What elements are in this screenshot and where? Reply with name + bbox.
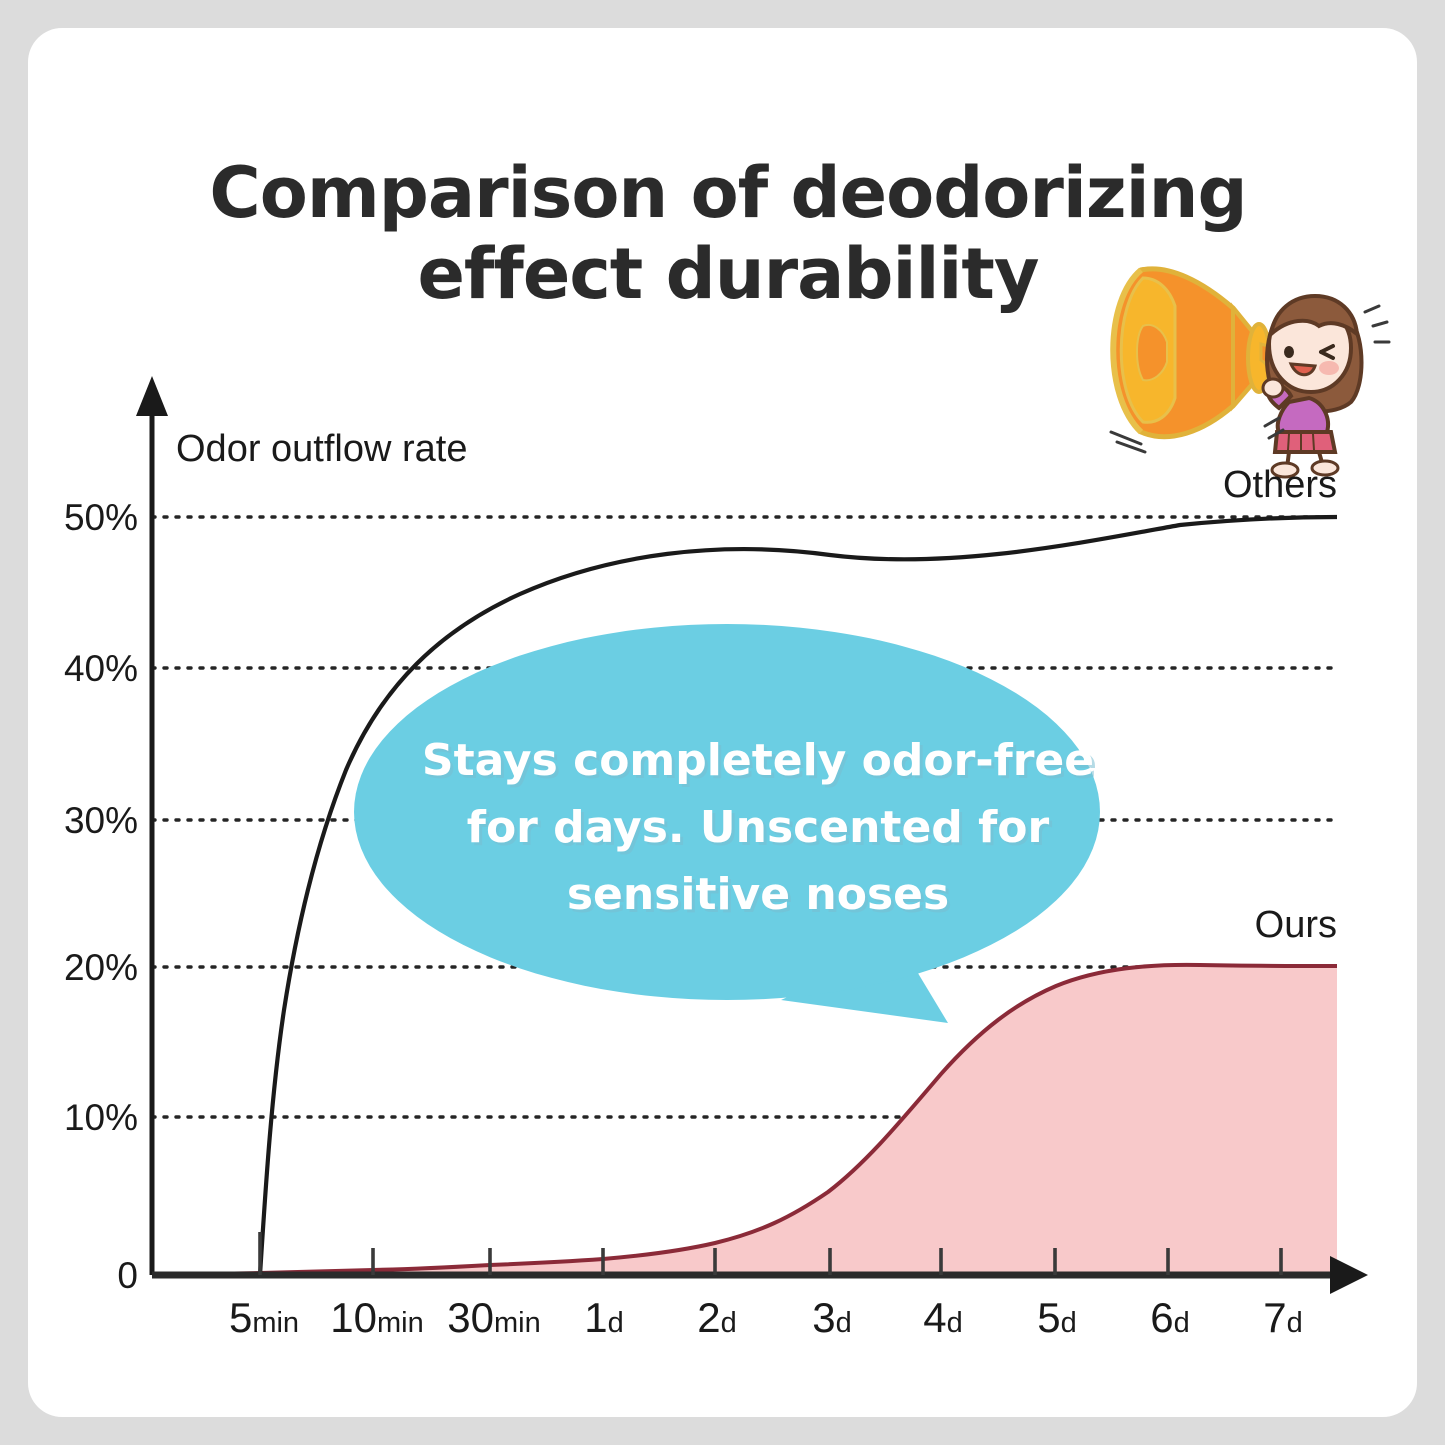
x-tick-unit-5: d xyxy=(836,1307,852,1339)
x-tick-num-0: 5 xyxy=(229,1294,252,1341)
svg-text:7d: 7d xyxy=(1263,1294,1303,1341)
svg-text:30min: 30min xyxy=(447,1294,540,1341)
x-tick-num-7: 5 xyxy=(1037,1294,1060,1341)
svg-text:10min: 10min xyxy=(330,1294,423,1341)
x-tick-num-6: 4 xyxy=(923,1294,946,1341)
chart-area: 50% 40% 30% 20% 10% 0 Odor outflow rate … xyxy=(28,28,1417,1417)
svg-text:6d: 6d xyxy=(1150,1294,1190,1341)
x-tick-num-8: 6 xyxy=(1150,1294,1173,1341)
series-label-ours: Ours xyxy=(1255,904,1337,946)
x-tick-num-1: 10 xyxy=(330,1294,377,1341)
x-tick-unit-7: d xyxy=(1061,1307,1077,1339)
x-tick-num-9: 7 xyxy=(1263,1294,1286,1341)
x-tick-num-3: 1 xyxy=(584,1294,607,1341)
svg-text:2d: 2d xyxy=(697,1294,737,1341)
y-axis xyxy=(136,376,168,1275)
x-tick-unit-8: d xyxy=(1174,1307,1190,1339)
y-axis-title: Odor outflow rate xyxy=(176,428,467,470)
callout-bubble xyxy=(354,624,1100,1023)
series-label-others: Others xyxy=(1223,464,1337,506)
svg-text:5min: 5min xyxy=(229,1294,299,1341)
x-tick-labels: 5min 10min 30min 1d 2d 3d 4d 5d 6d 7d xyxy=(229,1294,1303,1341)
x-tick-unit-2: min xyxy=(494,1307,541,1339)
y-tick-label-30: 30% xyxy=(64,800,138,841)
white-card: Comparison of deodorizing effect durabil… xyxy=(28,28,1417,1417)
series-ours-area xyxy=(152,965,1337,1275)
y-tick-label-10: 10% xyxy=(64,1097,138,1138)
y-tick-label-50: 50% xyxy=(64,497,138,538)
x-tick-num-2: 30 xyxy=(447,1294,494,1341)
x-tick-unit-3: d xyxy=(608,1307,624,1339)
svg-text:1d: 1d xyxy=(584,1294,624,1341)
svg-text:5d: 5d xyxy=(1037,1294,1077,1341)
y-tick-label-40: 40% xyxy=(64,648,138,689)
svg-text:3d: 3d xyxy=(812,1294,852,1341)
x-tick-unit-6: d xyxy=(947,1307,963,1339)
x-tick-unit-0: min xyxy=(252,1307,299,1339)
x-tick-num-5: 3 xyxy=(812,1294,835,1341)
x-tick-unit-4: d xyxy=(721,1307,737,1339)
y-tick-label-0: 0 xyxy=(117,1255,138,1296)
infographic-page: Comparison of deodorizing effect durabil… xyxy=(0,0,1445,1445)
svg-text:4d: 4d xyxy=(923,1294,963,1341)
y-tick-label-20: 20% xyxy=(64,947,138,988)
x-tick-num-4: 2 xyxy=(697,1294,720,1341)
x-tick-unit-9: d xyxy=(1287,1307,1303,1339)
x-tick-unit-1: min xyxy=(377,1307,424,1339)
